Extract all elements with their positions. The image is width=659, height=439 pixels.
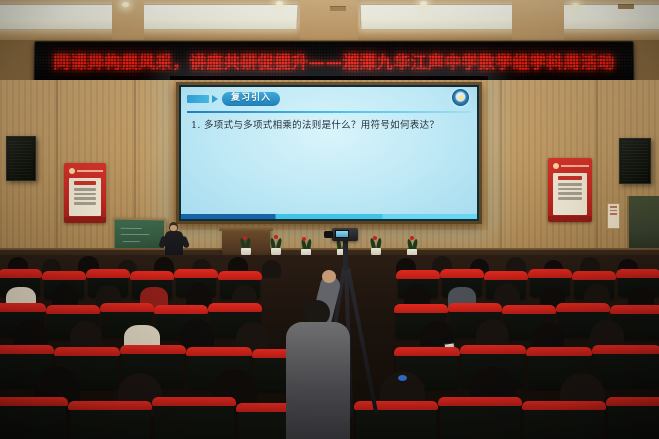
poster-seal-icon bbox=[69, 168, 75, 174]
plant-bloom bbox=[410, 236, 414, 240]
poster-header bbox=[67, 166, 103, 175]
plant-bloom bbox=[274, 235, 278, 239]
led-banner-text: 同课异构展风采，讲座共研促提升——湘潭九华江声中学数学组学科周活动 bbox=[53, 49, 614, 73]
ceiling bbox=[0, 0, 659, 40]
speaker-left bbox=[6, 136, 36, 181]
poster-text-line bbox=[74, 193, 96, 196]
poster-left bbox=[64, 163, 106, 223]
plant-bloom bbox=[243, 236, 247, 240]
led-banner: 同课异构展风采，讲座共研促提升——湘潭九华江声中学数学组学科周活动 bbox=[34, 41, 635, 81]
camera-operator bbox=[286, 300, 350, 439]
camera-viewfinder-screen bbox=[335, 230, 349, 238]
poster-right bbox=[548, 158, 592, 222]
poster-header-line bbox=[561, 165, 589, 167]
auditorium-seat[interactable] bbox=[70, 405, 150, 439]
speaker-right bbox=[619, 138, 651, 184]
ceiling-beam bbox=[512, 0, 564, 40]
ceiling-light-panel bbox=[139, 4, 298, 30]
slide-footer-bar bbox=[181, 214, 477, 219]
hair-scrunchie bbox=[398, 375, 407, 381]
ceiling-downlight bbox=[572, 3, 579, 8]
poster-text-line bbox=[74, 188, 96, 191]
notice-line bbox=[610, 210, 617, 212]
teacher-body bbox=[165, 231, 183, 258]
camera-lens-icon bbox=[324, 231, 333, 238]
podium-top bbox=[219, 226, 273, 231]
poster-text-line bbox=[558, 188, 582, 191]
ceiling-light-panel bbox=[360, 4, 519, 30]
slide-tag-block-icon bbox=[187, 95, 209, 103]
poster-text-line bbox=[558, 197, 582, 200]
auditorium-scene: 同课异构展风采，讲座共研促提升——湘潭九华江声中学数学组学科周活动 bbox=[0, 0, 659, 439]
poster-footer bbox=[64, 217, 106, 223]
poster-footer bbox=[548, 216, 592, 222]
chalk-mark bbox=[121, 234, 150, 235]
potted-plant bbox=[266, 232, 286, 256]
auditorium-seat[interactable] bbox=[0, 401, 66, 439]
potted-plant bbox=[296, 233, 316, 257]
slide-section-label: 复习引入 bbox=[222, 92, 280, 106]
wall-notice bbox=[607, 203, 620, 229]
notice-line bbox=[610, 206, 617, 208]
plant-bloom bbox=[302, 237, 306, 241]
poster-header bbox=[551, 161, 589, 170]
auditorium-seat[interactable] bbox=[608, 401, 659, 439]
auditorium-seat[interactable] bbox=[594, 349, 659, 387]
poster-seal-icon bbox=[553, 163, 559, 169]
ceiling-vent bbox=[618, 4, 634, 9]
potted-plant bbox=[402, 233, 422, 257]
chevron-right-icon bbox=[212, 95, 218, 103]
chalk-mark bbox=[123, 241, 140, 242]
poster-text-line bbox=[558, 192, 582, 195]
poster-body bbox=[69, 178, 101, 216]
poster-text-line bbox=[558, 183, 582, 186]
ceiling-vent bbox=[330, 6, 346, 11]
ceiling-light-panel bbox=[0, 4, 117, 30]
student bbox=[262, 260, 281, 278]
wall-seam bbox=[596, 80, 598, 255]
school-emblem-icon bbox=[452, 89, 469, 106]
poster-title-bar bbox=[558, 176, 582, 180]
slide-question-text: 1. 多项式与多项式相乘的法则是什么？用符号如何表达？ bbox=[191, 119, 467, 133]
auditorium-seat[interactable] bbox=[524, 405, 604, 439]
operator-body bbox=[286, 322, 350, 439]
speaker-grill bbox=[622, 141, 648, 181]
auditorium-seat[interactable] bbox=[440, 401, 520, 439]
potted-plant bbox=[236, 232, 256, 256]
auditorium-seat[interactable] bbox=[154, 401, 234, 439]
poster-text-line bbox=[74, 202, 96, 205]
side-door[interactable] bbox=[627, 196, 659, 254]
speaker-grill bbox=[9, 139, 33, 178]
presentation-slide: 复习引入 1. 多项式与多项式相乘的法则是什么？用符号如何表达？ bbox=[181, 87, 477, 219]
ceiling-beam bbox=[300, 0, 358, 40]
poster-body bbox=[553, 173, 587, 215]
slide-divider bbox=[187, 111, 471, 113]
projection-screen-inner: 复习引入 1. 多项式与多项式相乘的法则是什么？用符号如何表达？ bbox=[179, 85, 479, 221]
ceiling-downlight bbox=[276, 1, 283, 6]
projection-screen: 复习引入 1. 多项式与多项式相乘的法则是什么？用符号如何表达？ bbox=[176, 82, 482, 224]
chalk-mark bbox=[121, 228, 142, 229]
wall-seam bbox=[500, 80, 502, 255]
ceiling-downlight bbox=[420, 1, 427, 6]
slide-header: 复习引入 bbox=[181, 89, 477, 109]
notice-line bbox=[610, 213, 617, 215]
poster-text-line bbox=[74, 197, 96, 200]
ceiling-downlight bbox=[122, 2, 129, 7]
tripod-neck bbox=[343, 240, 348, 270]
wall-seam bbox=[56, 80, 58, 255]
poster-title-bar bbox=[74, 181, 96, 185]
operator-hand bbox=[322, 270, 336, 283]
poster-header-line bbox=[77, 170, 103, 172]
teacher bbox=[163, 222, 185, 258]
